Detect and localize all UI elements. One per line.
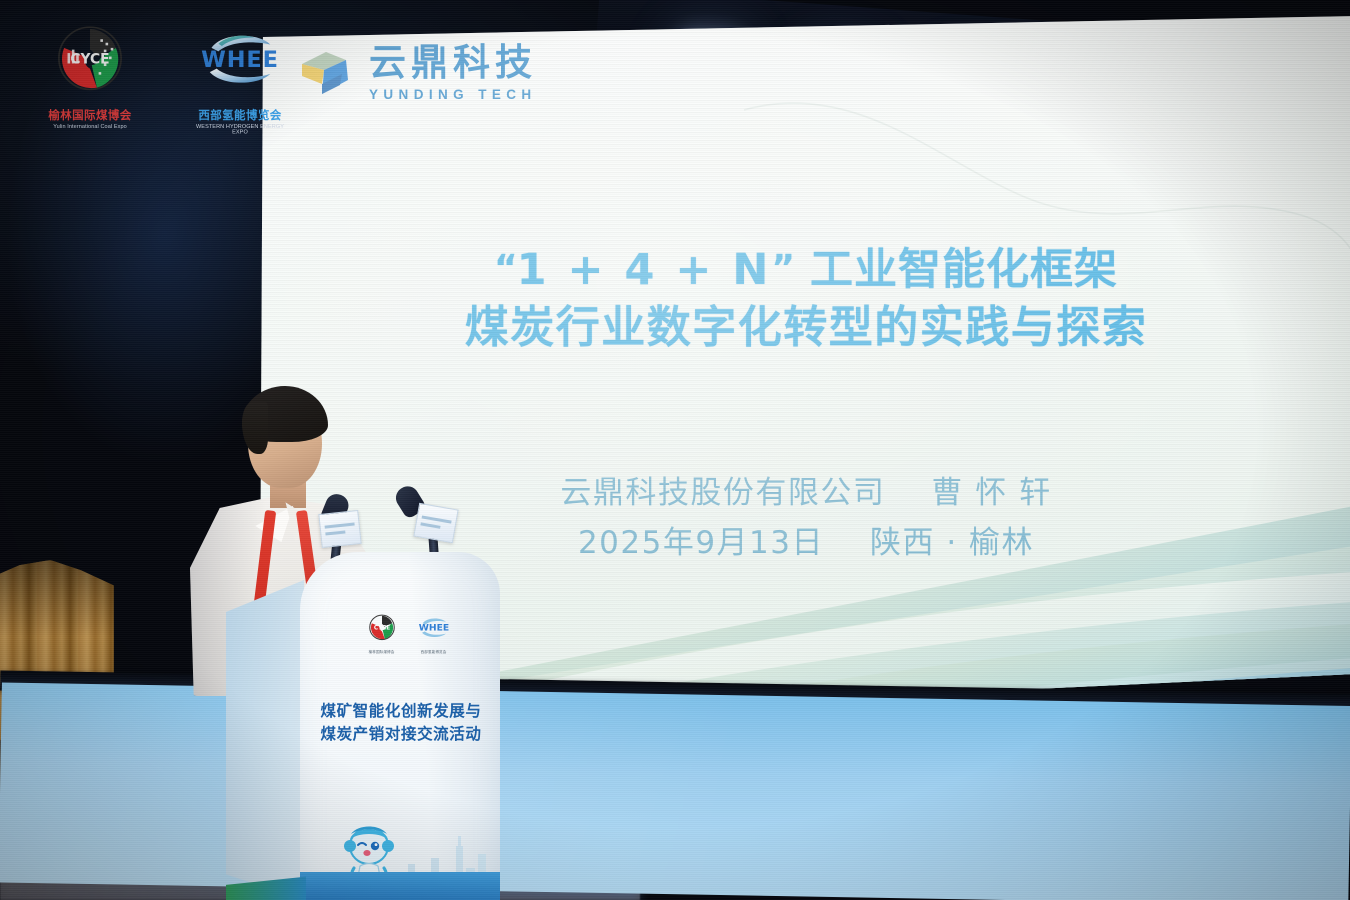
slide-title-block: “1 + 4 + N” 工业智能化框架 煤炭行业数字化转型的实践与探索: [258, 244, 1350, 356]
podium-water-band: [300, 872, 500, 900]
cyce-logo-icon: CYCE: [365, 613, 399, 643]
brand-name-cn: 云鼎科技: [369, 41, 537, 84]
slide-title-line-1: “1 + 4 + N” 工业智能化框架: [258, 244, 1350, 297]
podium-whee-name: 西部氢能博览会: [414, 650, 454, 655]
mic-flag: [413, 503, 458, 543]
svg-text:CYCE: CYCE: [373, 625, 389, 631]
title-formula: 1 + 4 + N: [517, 245, 772, 295]
podium-title-line-1: 煤矿智能化创新发展与: [310, 700, 492, 723]
cyce-name-cn: 榆林国际煤博会: [36, 107, 144, 123]
stage-front-panel: [0, 682, 1350, 900]
svg-text:WHEE: WHEE: [418, 623, 448, 634]
event-logo-cyce: CYCE 榆林国际煤博会 Yulin International Coal Ex…: [36, 22, 144, 136]
slide-title-line-2: 煤炭行业数字化转型的实践与探索: [258, 301, 1350, 356]
title-line-1-tail: 工业智能化框架: [810, 245, 1118, 295]
company-name: 云鼎科技股份有限公司: [560, 475, 885, 511]
quote-open: “: [494, 248, 517, 289]
podium-cyce-name: 榆林国际煤博会: [365, 650, 399, 655]
presenter-hair-side: [242, 402, 268, 454]
svg-text:WHEE: WHEE: [201, 47, 279, 73]
whee-logo-icon: WHEE: [414, 613, 454, 643]
yunding-logo-mark: [296, 44, 356, 102]
slide-brand-text: 云鼎科技 YUNDING TECH: [369, 44, 537, 102]
podium-logo-whee: WHEE 西部氢能博览会: [414, 613, 454, 655]
cyce-name-en: Yulin International Coal Expo: [40, 124, 139, 130]
podium-side-panel: [226, 580, 304, 900]
mic-flag: [318, 510, 361, 548]
podium-logo-cyce: CYCE 榆林国际煤博会: [365, 613, 399, 655]
presentation-location: 陕西 · 榆林: [870, 525, 1034, 561]
speaker-name: 曹 怀 轩: [931, 475, 1051, 511]
quote-close: ”: [771, 248, 794, 289]
podium: CYCE 榆林国际煤博会 WHEE 西部氢能博览会 煤矿智能化创新发展与 煤炭产…: [226, 552, 500, 900]
podium-title-line-2: 煤炭产销对接交流活动: [310, 723, 492, 746]
whee-name-en: WESTERN HYDROGEN ENERGY EXPO: [190, 124, 289, 135]
cyce-logo-icon: CYCE: [40, 22, 140, 98]
event-logo-group: CYCE 榆林国际煤博会 Yulin International Coal Ex…: [36, 22, 294, 136]
conference-photo: 云鼎科技 YUNDING TECH “1 + 4 + N” 工业智能化框架 煤炭…: [0, 0, 1350, 900]
whee-logo-icon: WHEE: [186, 22, 294, 98]
podium-title-block: 煤矿智能化创新发展与 煤炭产销对接交流活动: [310, 700, 492, 747]
whee-name-cn: 西部氢能博览会: [186, 107, 294, 123]
slide-brand-logo: 云鼎科技 YUNDING TECH: [296, 44, 537, 102]
svg-text:CYCE: CYCE: [70, 51, 109, 67]
podium-logo-group: CYCE 榆林国际煤博会 WHEE 西部氢能博览会: [354, 614, 464, 654]
event-logo-whee: WHEE 西部氢能博览会 WESTERN HYDROGEN ENERGY EXP…: [186, 22, 294, 136]
brand-name-en: YUNDING TECH: [369, 87, 537, 102]
presentation-date: 2025年9月13日: [578, 525, 824, 561]
